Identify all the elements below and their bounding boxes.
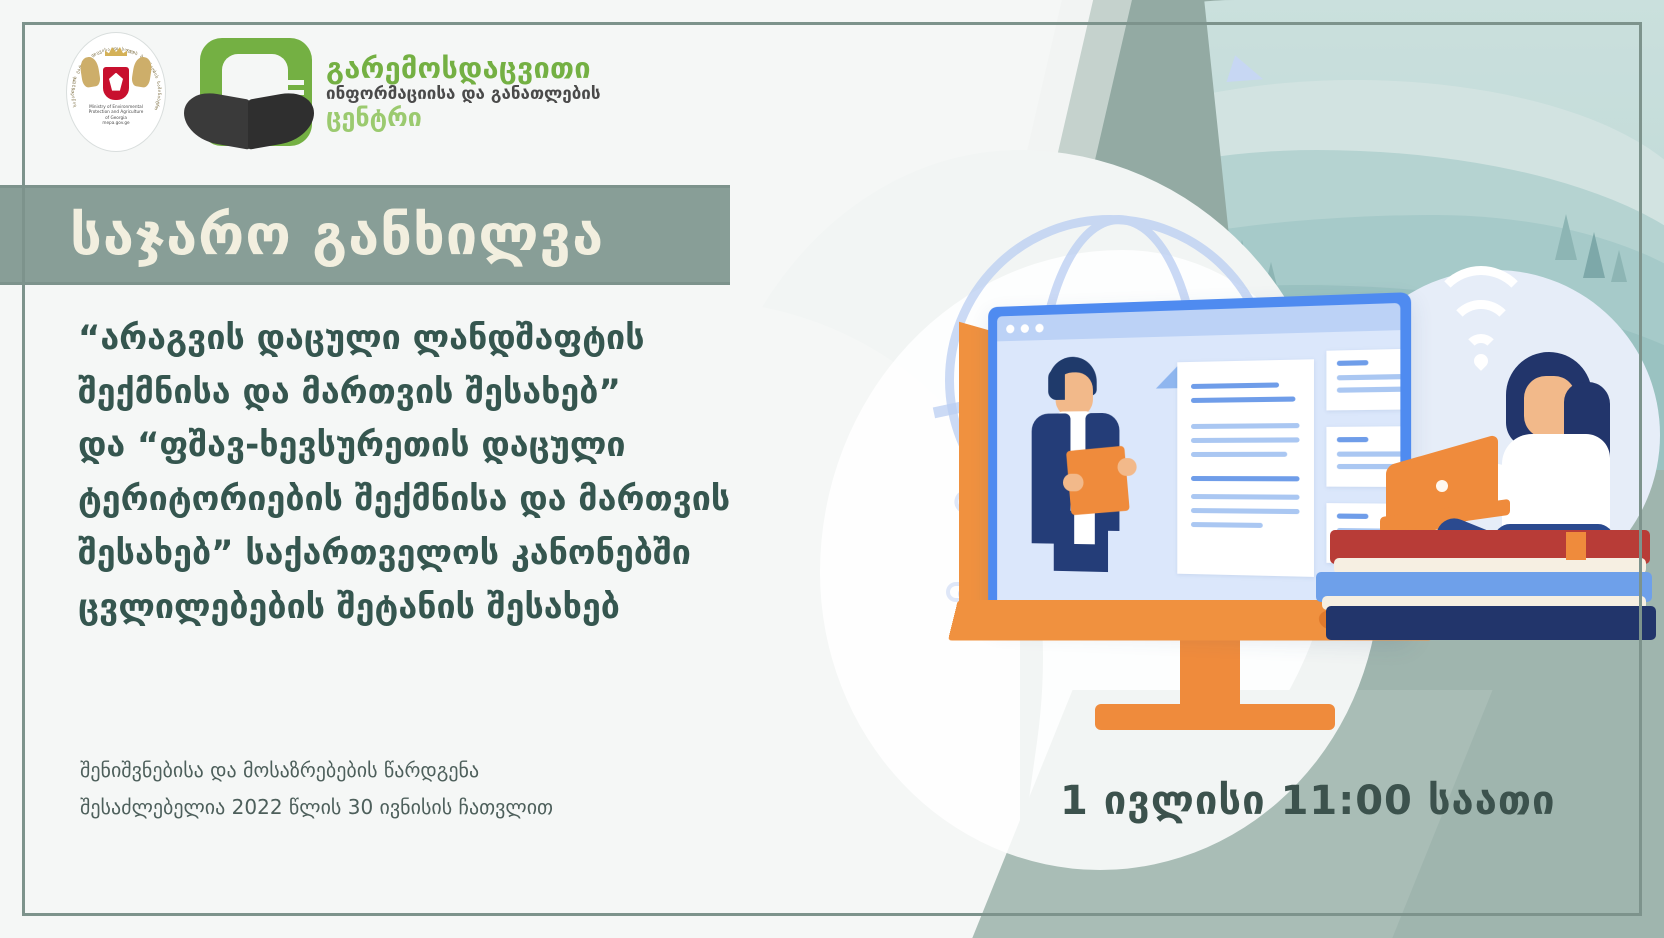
georgia-coat-of-arms-icon xyxy=(103,67,129,100)
center-logo-line1: გარემოსდაცვითი xyxy=(326,53,601,83)
page-corner-fold xyxy=(1156,366,1177,388)
headline-line: “არაგვის დაცული ლანდშაფტის xyxy=(78,312,738,366)
center-logo-text: გარემოსდაცვითი ინფორმაციისა და განათლები… xyxy=(326,53,601,131)
book-bookmark xyxy=(1566,532,1586,560)
page-title: საჯარო განხილვა xyxy=(70,203,604,268)
headline-line: შექმნისა და მართვის შესახებ” xyxy=(78,366,738,420)
headline-line: შესახებ” საქართველოს კანონებში xyxy=(78,527,738,581)
book-navy xyxy=(1326,606,1656,640)
note-line: შესაძლებელია 2022 წლის 30 ივნისის ჩათვლი… xyxy=(80,789,720,826)
headline-line: ტერიტორიების შექმნისა და მართვის xyxy=(78,473,738,527)
center-logo: გარემოსდაცვითი ინფორმაციისა და განათლები… xyxy=(200,38,601,146)
monitor-base xyxy=(1095,704,1335,730)
ministry-emblem: საქართველოს გარემოს დაცვისა და სოფლის მე… xyxy=(66,32,166,152)
monitor-side-edge xyxy=(959,322,989,621)
open-book-icon xyxy=(184,90,314,144)
document-page-main xyxy=(1177,359,1314,577)
title-banner: საჯარო განხილვა xyxy=(0,185,730,285)
presenter-hair-side xyxy=(1048,369,1065,400)
presenter-hand xyxy=(1118,458,1137,476)
headline-block: “არაგვის დაცული ლანდშაფტის შექმნისა და მ… xyxy=(78,312,738,634)
presenter-hand xyxy=(1063,474,1084,492)
laptop-logo xyxy=(1436,480,1448,492)
center-logo-line3: ცენტრი xyxy=(326,105,601,131)
center-logo-mark xyxy=(200,38,312,146)
headline-line: ცვლილებების შეტანის შესახებ xyxy=(78,581,738,635)
center-logo-line2: ინფორმაციისა და განათლების xyxy=(326,86,601,104)
note-line: შენიშვნებისა და მოსაზრებების წარდგენა xyxy=(80,752,720,789)
headline-line: და “ფშავ-ხევსურეთის დაცული xyxy=(78,419,738,473)
book-stack xyxy=(1330,520,1664,650)
event-datetime: 1 ივლისი 11:00 საათი xyxy=(1060,778,1556,824)
logo-row: საქართველოს გარემოს დაცვისა და სოფლის მე… xyxy=(66,32,601,152)
poster-canvas: საქართველოს გარემოს დაცვისა და სოფლის მე… xyxy=(0,0,1664,938)
document-page-side xyxy=(1326,349,1400,411)
submission-note: შენიშვნებისა და მოსაზრებების წარდგენა შე… xyxy=(80,752,720,826)
